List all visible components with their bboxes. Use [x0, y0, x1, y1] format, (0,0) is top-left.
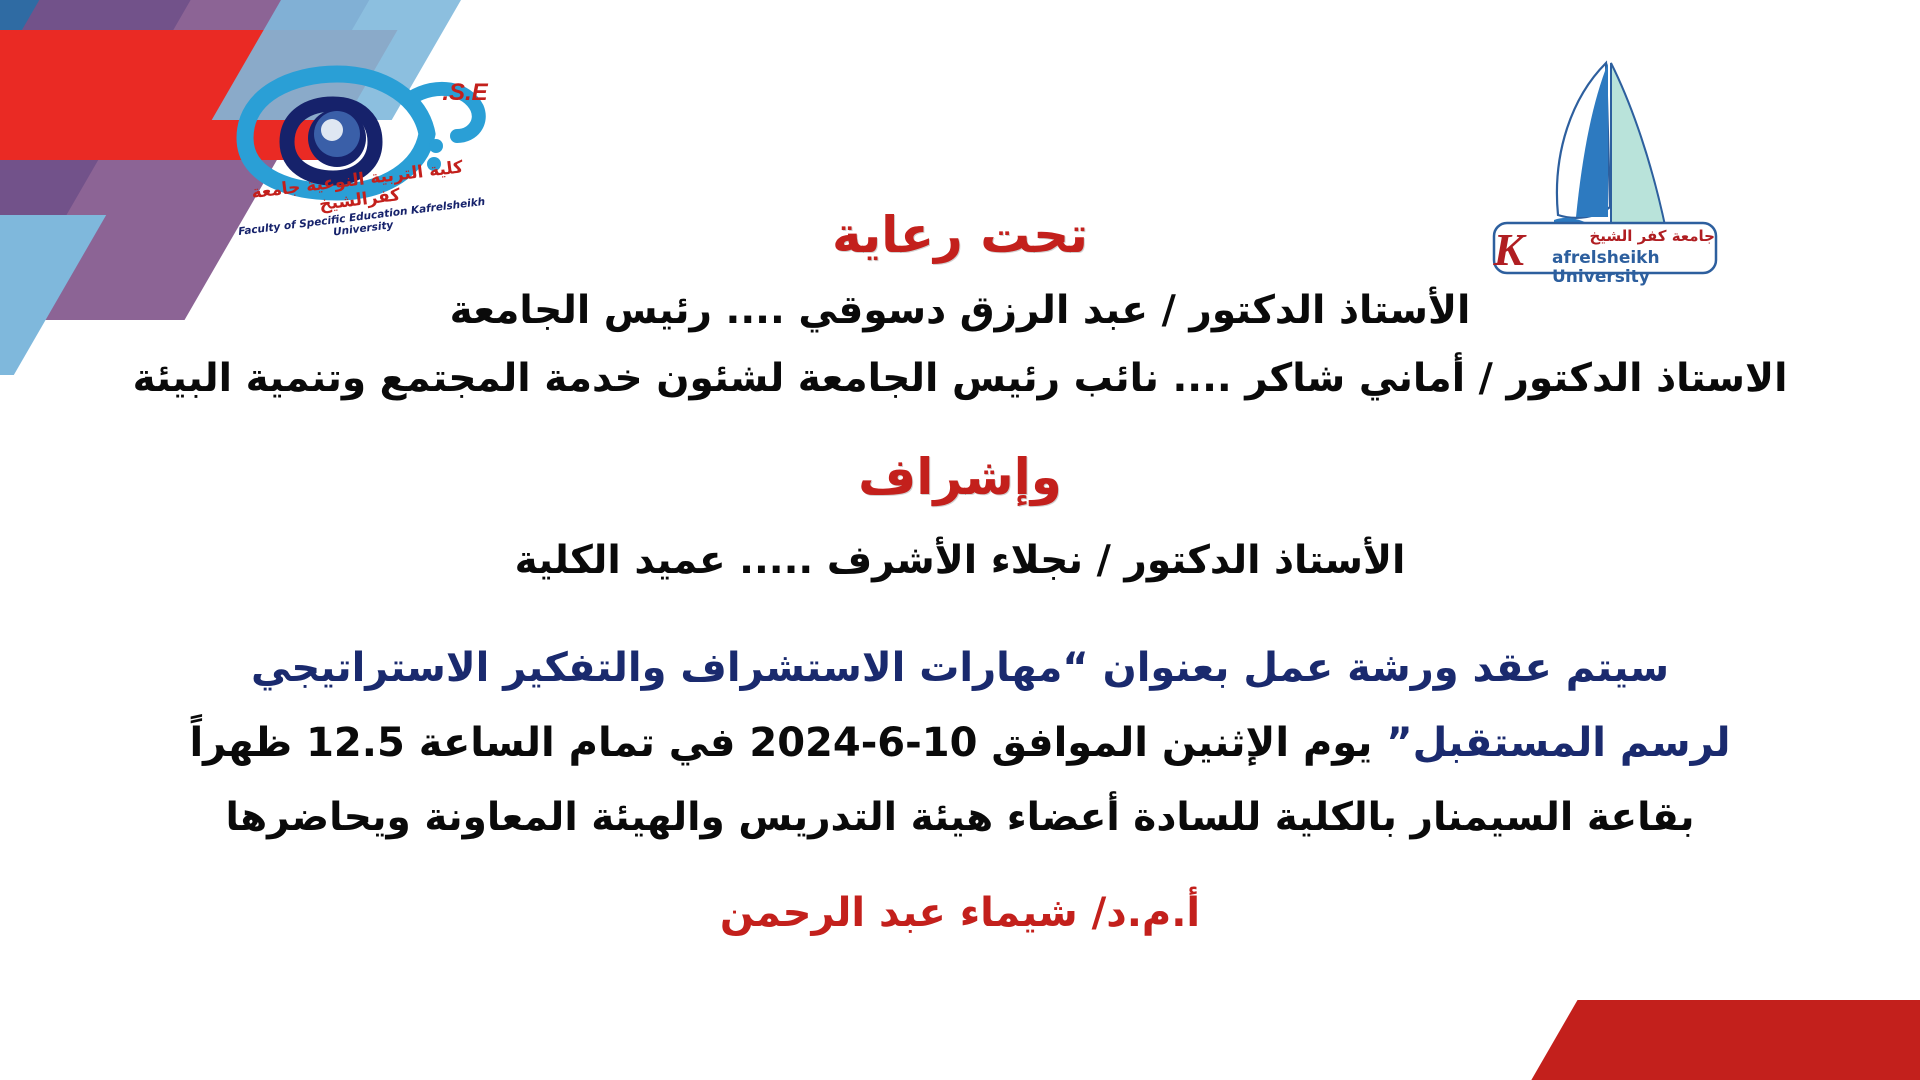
faculty-of-specific-education-logo: S.E. كلية التربية النوعية جامعة كفرالشيخ…	[215, 60, 505, 230]
vice-president-line: الاستاذ الدكتور / أماني شاكر .... نائب ر…	[0, 356, 1920, 401]
university-president-line: الأستاذ الدكتور / عبد الرزق دسوقي .... ر…	[0, 288, 1920, 333]
deco-band-red	[1502, 1000, 1920, 1080]
workshop-venue-audience-line: بقاعة السيمنار بالكلية للسادة أعضاء هيئة…	[0, 795, 1920, 840]
workshop-intro-text: سيتم عقد ورشة عمل بعنوان	[1089, 645, 1669, 691]
workshop-datetime-text: يوم الإثنين الموافق 10-6-2024 في تمام ال…	[189, 720, 1386, 766]
workshop-announcement-line-1: سيتم عقد ورشة عمل بعنوان “مهارات الاستشر…	[0, 645, 1920, 691]
svg-text:S.E.: S.E.	[442, 79, 488, 106]
patronage-heading: تحت رعاية	[0, 206, 1920, 264]
workshop-title-part-2: لرسم المستقبل”	[1386, 720, 1730, 766]
poster-canvas: S.E. كلية التربية النوعية جامعة كفرالشيخ…	[0, 0, 1920, 1080]
workshop-announcement-line-2: لرسم المستقبل” يوم الإثنين الموافق 10-6-…	[0, 720, 1920, 766]
supervision-heading: وإشراف	[0, 448, 1920, 506]
workshop-presenter-name: أ.م.د/ شيماء عبد الرحمن	[0, 890, 1920, 936]
faculty-dean-line: الأستاذ الدكتور / نجلاء الأشرف ..... عمي…	[0, 538, 1920, 583]
workshop-title-part-1: “مهارات الاستشراف والتفكير الاستراتيجي	[251, 645, 1089, 691]
